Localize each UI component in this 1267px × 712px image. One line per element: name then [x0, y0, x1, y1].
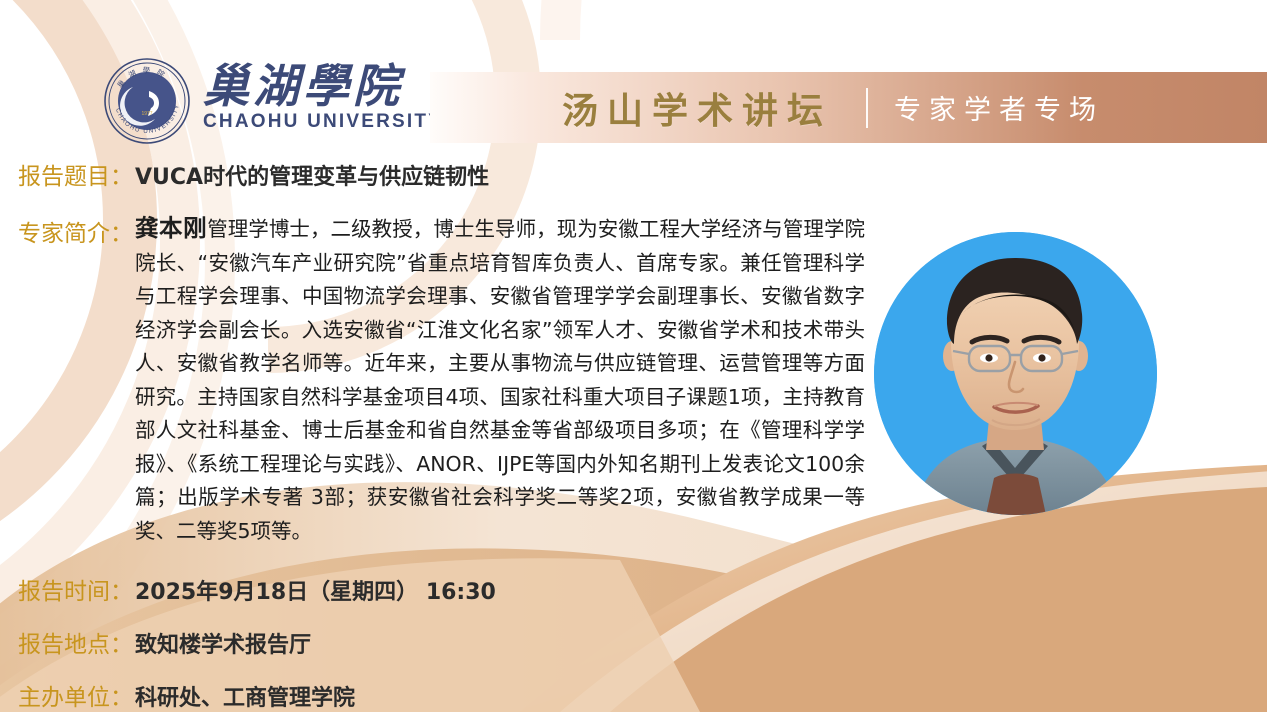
- talk-place-label: 报告地点：: [18, 625, 133, 659]
- banner-subtitle: 专家学者专场: [894, 88, 1104, 127]
- talk-time-label: 报告时间：: [18, 572, 133, 606]
- talk-title-row: 报告题目： VUCA时代的管理变革与供应链韧性: [18, 157, 489, 191]
- poster-header: 1977 巢湖學院 CHAOHU UNIVERSITY 巢湖學院 CHAOHU …: [0, 0, 1267, 150]
- forum-banner: 汤山学术讲坛 专家学者专场: [430, 72, 1267, 143]
- banner-divider: [866, 88, 868, 128]
- speaker-bio-body: 龚本刚管理学博士，二级教授，博士生导师，现为安徽工程大学经济与管理学院院长、“安…: [135, 212, 865, 548]
- talk-place-row: 报告地点： 致知楼学术报告厅: [18, 625, 311, 659]
- talk-title-label: 报告题目：: [18, 157, 133, 191]
- banner-title: 汤山学术讲坛: [562, 82, 832, 134]
- chaohu-university-seal-icon: 1977 巢湖學院 CHAOHU UNIVERSITY: [103, 57, 191, 145]
- talk-title-value: VUCA时代的管理变革与供应链韧性: [135, 159, 489, 191]
- speaker-bio-label: 专家简介：: [18, 212, 133, 248]
- talk-organizer-value: 科研处、工商管理学院: [135, 680, 355, 712]
- university-logo: 1977 巢湖學院 CHAOHU UNIVERSITY 巢湖學院 CHAOHU …: [103, 57, 427, 149]
- university-name-en: CHAOHU UNIVERSITY: [203, 111, 443, 133]
- talk-place-value: 致知楼学术报告厅: [135, 627, 311, 659]
- talk-organizer-row: 主办单位： 科研处、工商管理学院: [18, 678, 355, 712]
- talk-organizer-label: 主办单位：: [18, 678, 133, 712]
- speaker-name: 龚本刚: [135, 214, 207, 242]
- speaker-bio-text: 管理学博士，二级教授，博士生导师，现为安徽工程大学经济与管理学院院长、“安徽汽车…: [135, 217, 865, 543]
- university-name-cn: 巢湖學院: [203, 59, 403, 113]
- poster-root: 1977 巢湖學院 CHAOHU UNIVERSITY 巢湖學院 CHAOHU …: [0, 0, 1267, 712]
- talk-time-value: 2025年9月18日（星期四） 16:30: [135, 574, 496, 606]
- svg-text:1977: 1977: [141, 111, 152, 117]
- talk-time-row: 报告时间： 2025年9月18日（星期四） 16:30: [18, 572, 496, 606]
- speaker-portrait: [874, 232, 1157, 515]
- speaker-bio-row: 专家简介： 龚本刚管理学博士，二级教授，博士生导师，现为安徽工程大学经济与管理学…: [18, 212, 898, 548]
